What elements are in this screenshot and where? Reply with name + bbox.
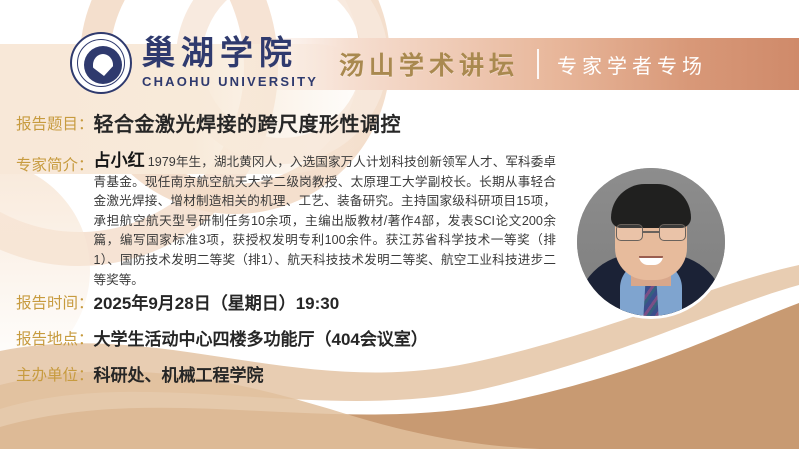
report-time-label: 报告时间： (16, 291, 94, 313)
portrait-glasses-icon (616, 224, 686, 241)
speaker-bio-text: 占小红1979年生，湖北黄冈人，入选国家万人计划科技创新领军人才、军科委卓青基金… (94, 151, 556, 290)
university-name-en: CHAOHU UNIVERSITY (142, 74, 318, 89)
seal-core-emblem (84, 46, 122, 84)
report-place-row: 报告地点： 大学生活动中心四楼多功能厅（404会议室） (16, 325, 428, 350)
forum-title: 汤山学术讲坛 (339, 46, 519, 82)
report-title-label: 报告题目： (16, 112, 94, 134)
report-host-value: 科研处、机械工程学院 (94, 361, 264, 386)
university-name-block: 巢湖学院 CHAOHU UNIVERSITY (142, 37, 318, 89)
seminar-poster: 汤山学术讲坛 专家学者专场 巢湖学院 CHAOHU UNIVERSITY 报告题… (0, 0, 799, 449)
report-time-value: 2025年9月28日（星期日）19:30 (94, 289, 340, 314)
glasses-left-lens (616, 224, 643, 241)
report-host-row: 主办单位： 科研处、机械工程学院 (16, 361, 264, 386)
banner-divider (537, 49, 539, 79)
report-title-row: 报告题目： 轻合金激光焊接的跨尺度形性调控 (16, 108, 401, 137)
report-host-label: 主办单位： (16, 363, 94, 385)
forum-subtitle: 专家学者专场 (557, 50, 707, 79)
speaker-portrait (577, 168, 725, 316)
university-name-cn: 巢湖学院 (142, 37, 318, 72)
speaker-name: 占小红 (94, 151, 145, 170)
forum-banner: 汤山学术讲坛 专家学者专场 (253, 38, 799, 90)
speaker-bio-paragraph: 1979年生，湖北黄冈人，入选国家万人计划科技创新领军人才、军科委卓青基金。现任… (94, 155, 556, 287)
glasses-right-lens (659, 224, 686, 241)
report-place-value: 大学生活动中心四楼多功能厅（404会议室） (94, 325, 428, 350)
university-seal-icon (70, 32, 132, 94)
speaker-bio-row: 专家简介： 占小红1979年生，湖北黄冈人，入选国家万人计划科技创新领军人才、军… (16, 151, 556, 290)
report-time-row: 报告时间： 2025年9月28日（星期日）19:30 (16, 289, 339, 314)
speaker-bio-label: 专家简介： (16, 151, 94, 175)
report-title-value: 轻合金激光焊接的跨尺度形性调控 (94, 108, 402, 137)
glasses-bridge (643, 231, 659, 233)
university-logo: 巢湖学院 CHAOHU UNIVERSITY (70, 32, 318, 94)
report-place-label: 报告地点： (16, 327, 94, 349)
